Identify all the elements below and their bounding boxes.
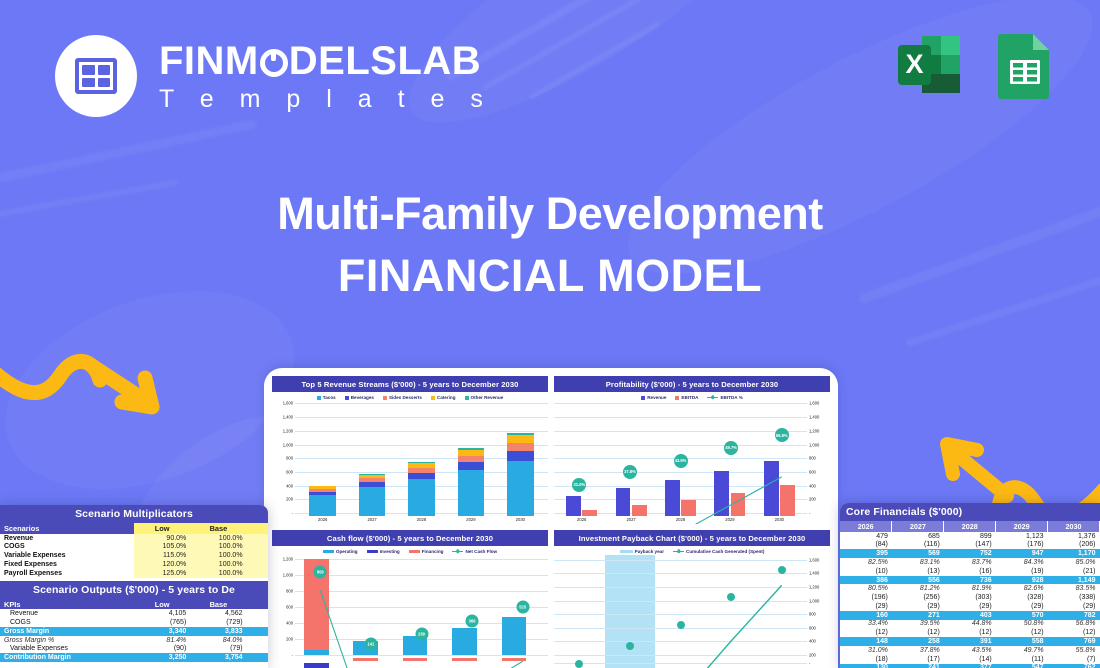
google-sheets-icon[interactable]: [988, 28, 1062, 102]
arrow-left-pointer: [0, 288, 192, 418]
brand-name-part2: DELSLAB: [289, 39, 481, 83]
table-row[interactable]: 130241377547762: [840, 664, 1100, 668]
legend-swatch-icon: [383, 396, 387, 400]
table-row[interactable]: Variable Expenses (90) (79): [0, 645, 268, 654]
table-row[interactable]: 4796858991,1231,376: [840, 532, 1100, 541]
column-header-extra: [247, 599, 268, 610]
legend-swatch-icon: [317, 396, 321, 400]
column-header-kpis: KPIs: [0, 599, 134, 610]
legend-swatch-icon: [345, 396, 349, 400]
legend-item-investing: Investing: [367, 549, 400, 554]
data-label-ebitda-pct-2030: 55.8%: [775, 428, 789, 442]
table-row[interactable]: Variable Expenses 115.0% 100.0%: [0, 551, 268, 560]
bar-group-2029[interactable]: [446, 401, 495, 516]
title-block: Multi-Family Development FINANCIAL MODEL: [0, 188, 1100, 302]
legend-swatch-icon: [641, 396, 645, 400]
legend-swatch-icon: [465, 396, 469, 400]
legend-swatch-icon: [409, 550, 420, 553]
data-label-ebitda-pct-2029: 49.7%: [724, 441, 738, 455]
chart-legend-profitability: Revenue EBITDA EBITDA %: [554, 392, 830, 401]
column-header-2029: 2029: [996, 521, 1048, 532]
table-header-row: Scenarios Low Base: [0, 523, 268, 534]
chart-title-revenue-streams: Top 5 Revenue Streams ($'000) - 5 years …: [272, 376, 548, 392]
column-header-2027: 2027: [892, 521, 944, 532]
scenario-outputs-table[interactable]: KPIs Low Base Revenue 4,105 4,562 COGS (…: [0, 599, 268, 662]
chart-title-cash-flow: Cash flow ($'000) - 5 years to December …: [272, 530, 548, 546]
legend-swatch-icon: [675, 396, 679, 400]
legend-line-icon: [673, 551, 684, 552]
svg-text:X: X: [905, 49, 923, 79]
chart-plot-cash-flow: 1,200 1,000 800 600 400 200 - (200): [272, 555, 548, 668]
scenario-panel[interactable]: Scenario Multiplicators Scenarios Low Ba…: [0, 505, 268, 668]
data-label-net-cash-flow-2029: 366: [466, 615, 479, 628]
table-row[interactable]: Fixed Expenses 120.0% 100.0%: [0, 560, 268, 569]
chart-legend-cash-flow: Operating Investing Financing Net Cash F…: [272, 546, 548, 555]
chart-plot-investment-payback: 1,600 1,400 1,200 1,000 800 600 400 200 …: [554, 555, 830, 668]
chart-line-net-cash-flow: [295, 555, 548, 668]
table-row[interactable]: Revenue 4,105 4,562: [0, 609, 268, 618]
y-axis-investment-payback: 1,600 1,400 1,200 1,000 800 600 400 200 …: [807, 555, 830, 668]
data-label-ebitda-pct-2026: 31.0%: [572, 478, 586, 492]
file-format-icons: X: [892, 28, 1062, 102]
y-axis-cash-flow: 1,200 1,000 800 600 400 200 - (200): [272, 555, 295, 668]
x-axis-revenue-streams: 2026 2027 2028 2029 2030: [295, 516, 548, 525]
scenario-multiplicators-table[interactable]: Scenarios Low Base Revenue 90.0% 100.0% …: [0, 523, 268, 578]
legend-band-icon: [620, 550, 633, 553]
legend-item-other-revenue: Other Revenue: [465, 395, 504, 400]
legend-line-icon: [452, 551, 463, 552]
column-header-low: Low: [134, 599, 190, 610]
table-row[interactable]: 3865567369281,149: [840, 576, 1100, 585]
column-header-2030: 2030: [1048, 521, 1100, 532]
bar-group-2027[interactable]: [347, 401, 396, 516]
table-row[interactable]: (18)(17)(14)(11)(7): [840, 655, 1100, 664]
data-label-net-cash-flow-2030: 525: [516, 600, 529, 613]
legend-item-tacos: Tacos: [317, 395, 336, 400]
table-header-row: 2026 2027 2028 2029 2030: [840, 521, 1100, 532]
chart-grid-cash-flow: 959 141 239 366 525: [295, 555, 548, 668]
brand-logo: FINMDELSLAB T e m p l a t e s: [55, 35, 492, 117]
column-header-base: Base: [190, 523, 246, 534]
chart-grid-profitability: 31.0% 37.8% 43.5% 49.7% 55.8%: [554, 401, 807, 516]
table-row[interactable]: 160271403570782: [840, 611, 1100, 620]
chart-title-profitability: Profitability ($'000) - 5 years to Decem…: [554, 376, 830, 392]
core-financials-panel[interactable]: Core Financials ($'000) 2026 2027 2028 2…: [840, 503, 1100, 668]
chart-legend-investment-payback: Payback year Cumulative Cash Generated (…: [554, 546, 830, 555]
excel-icon[interactable]: X: [892, 28, 966, 102]
bar-group-2026[interactable]: [298, 401, 347, 516]
table-row[interactable]: COGS 105.0% 100.0%: [0, 543, 268, 552]
table-row[interactable]: 3955697529471,170: [840, 549, 1100, 558]
scenario-outputs-title: Scenario Outputs ($'000) - 5 years to De: [0, 581, 268, 599]
column-header-base: Base: [190, 599, 246, 610]
legend-item-operating: Operating: [323, 549, 358, 554]
data-point-2027: [626, 642, 634, 650]
chart-plot-revenue-streams: 1,600 1,400 1,200 1,000 800 600 400 200 …: [272, 401, 548, 516]
chart-card-cash-flow[interactable]: Cash flow ($'000) - 5 years to December …: [272, 530, 548, 668]
column-header-scenarios: Scenarios: [0, 523, 134, 534]
legend-item-ebitda-pct: EBITDA %: [707, 395, 742, 400]
table-row[interactable]: (29)(29)(29)(29)(29): [840, 602, 1100, 611]
y-axis-profitability: 1,600 1,400 1,200 1,000 800 600 400 200 …: [807, 401, 830, 516]
table-header-row: KPIs Low Base: [0, 599, 268, 610]
bar-group-2028[interactable]: [397, 401, 446, 516]
table-row[interactable]: Revenue 90.0% 100.0%: [0, 534, 268, 543]
data-label-net-cash-flow-2026: 959: [314, 566, 327, 579]
legend-item-sides-desserts: Sides Desserts: [383, 395, 422, 400]
legend-item-cumulative-cash: Cumulative Cash Generated (Spent): [673, 549, 764, 554]
table-row[interactable]: (10)(13)(16)(19)(21): [840, 567, 1100, 576]
chart-bars-revenue-streams: [295, 401, 548, 516]
legend-item-financing: Financing: [409, 549, 444, 554]
core-financials-table[interactable]: 2026 2027 2028 2029 2030 4796858991,1231…: [840, 521, 1100, 668]
logo-circle: [55, 35, 137, 117]
table-row[interactable]: Gross Margin 3,340 3,833: [0, 627, 268, 636]
chart-card-revenue-streams[interactable]: Top 5 Revenue Streams ($'000) - 5 years …: [272, 376, 548, 524]
page-title-line2: FINANCIAL MODEL: [0, 250, 1100, 302]
table-row[interactable]: (196)(256)(303)(328)(338): [840, 593, 1100, 602]
brand-subtitle: T e m p l a t e s: [159, 87, 492, 112]
chart-grid-investment-payback: [554, 555, 807, 668]
y-axis-revenue-streams: 1,600 1,400 1,200 1,000 800 600 400 200 …: [272, 401, 295, 516]
legend-swatch-icon: [431, 396, 435, 400]
data-label-net-cash-flow-2028: 239: [415, 627, 428, 640]
data-label-net-cash-flow-2027: 141: [364, 637, 377, 650]
brand-text-block: FINMDELSLAB T e m p l a t e s: [159, 41, 492, 112]
legend-swatch-icon: [367, 550, 378, 553]
dashboard-preview[interactable]: Top 5 Revenue Streams ($'000) - 5 years …: [264, 368, 838, 668]
chart-card-investment-payback[interactable]: Investment Payback Chart ($'000) - 5 yea…: [554, 530, 830, 668]
brand-o-ring-icon: [260, 49, 288, 77]
page-title-line1: Multi-Family Development: [0, 188, 1100, 240]
legend-line-icon: [707, 397, 718, 398]
table-row[interactable]: (84)(116)(147)(176)(206): [840, 541, 1100, 550]
grid-logo-icon: [75, 58, 117, 94]
chart-title-investment-payback: Investment Payback Chart ($'000) - 5 yea…: [554, 530, 830, 546]
brand-name: FINMDELSLAB: [159, 41, 492, 81]
column-header-2026: 2026: [840, 521, 892, 532]
data-label-ebitda-pct-2028: 43.5%: [674, 454, 688, 468]
column-header-low: Low: [134, 523, 190, 534]
legend-item-payback-year: Payback year: [620, 549, 664, 554]
data-point-2026: [575, 660, 583, 668]
legend-item-net-cash-flow: Net Cash Flow: [452, 549, 497, 554]
table-row[interactable]: 148258391558769: [840, 637, 1100, 646]
scenario-multiplicators-title: Scenario Multiplicators: [0, 505, 268, 523]
chart-legend-revenue-streams: Tacos Beverages Sides Desserts Catering …: [272, 392, 548, 401]
legend-item-catering: Catering: [431, 395, 456, 400]
table-row[interactable]: COGS (765) (729): [0, 618, 268, 627]
bar-group-2030[interactable]: [496, 401, 545, 516]
legend-item-revenue: Revenue: [641, 395, 666, 400]
table-row[interactable]: Contribution Margin 3,250 3,754: [0, 653, 268, 662]
table-row[interactable]: 80.5%81.2%81.9%82.6%83.5%: [840, 584, 1100, 593]
core-financials-title: Core Financials ($'000): [840, 503, 1100, 521]
brand-name-part1: FINM: [159, 39, 259, 83]
chart-plot-profitability: 31.0% 37.8% 43.5% 49.7% 55.8% 1,600 1,40…: [554, 401, 830, 516]
legend-swatch-icon: [323, 550, 334, 553]
column-header-extra: [247, 523, 268, 534]
table-row[interactable]: Gross Margin % 81.4% 84.0%: [0, 636, 268, 645]
data-label-ebitda-pct-2027: 37.8%: [623, 465, 637, 479]
chart-card-profitability[interactable]: Profitability ($'000) - 5 years to Decem…: [554, 376, 830, 524]
chart-line-cumulative-cash: [554, 555, 807, 668]
legend-item-ebitda: EBITDA: [675, 395, 698, 400]
data-point-2029: [727, 593, 735, 601]
legend-item-beverages: Beverages: [345, 395, 374, 400]
table-row[interactable]: 82.5%83.1%83.7%84.3%85.0%: [840, 558, 1100, 567]
table-row[interactable]: 33.4%39.5%44.8%50.8%56.8%: [840, 620, 1100, 629]
chart-grid-revenue-streams: [295, 401, 548, 516]
table-row[interactable]: 31.0%37.8%43.5%49.7%55.8%: [840, 646, 1100, 655]
data-point-2028: [677, 621, 685, 629]
data-point-2030: [778, 566, 786, 574]
column-header-2028: 2028: [944, 521, 996, 532]
table-row[interactable]: Payroll Expenses 125.0% 100.0%: [0, 569, 268, 578]
table-row[interactable]: (12)(12)(12)(12)(12): [840, 628, 1100, 637]
